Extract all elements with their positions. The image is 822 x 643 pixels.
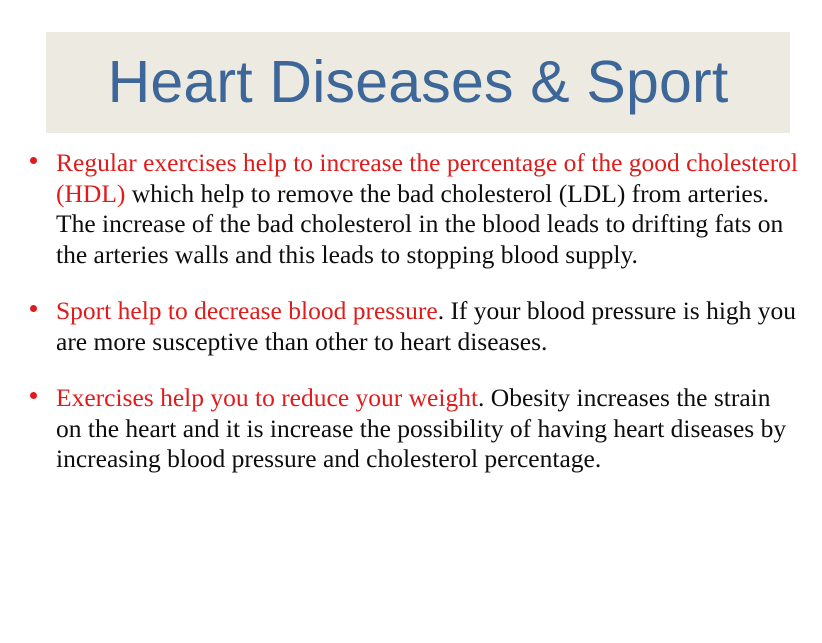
list-item-text: Regular exercises help to increase the p… [56, 148, 800, 270]
list-item: Exercises help you to reduce your weight… [0, 383, 822, 475]
bullet-dot-icon [30, 305, 37, 312]
bullet-list: Regular exercises help to increase the p… [0, 148, 822, 475]
slide: Heart Diseases & Sport Regular exercises… [0, 0, 822, 643]
list-item-highlight: Exercises help you to reduce your weight [56, 383, 478, 412]
list-item-text: Sport help to decrease blood pressure. I… [56, 296, 800, 357]
title-band: Heart Diseases & Sport [46, 32, 790, 133]
bullet-dot-icon [30, 392, 37, 399]
list-item-body: which help to remove the bad cholesterol… [56, 179, 783, 269]
page-title: Heart Diseases & Sport [46, 32, 790, 133]
list-item-highlight: Sport help to decrease blood pressure [56, 296, 438, 325]
list-item: Sport help to decrease blood pressure. I… [0, 296, 822, 357]
bullet-dot-icon [30, 157, 37, 164]
list-item: Regular exercises help to increase the p… [0, 148, 822, 270]
list-item-text: Exercises help you to reduce your weight… [56, 383, 800, 475]
